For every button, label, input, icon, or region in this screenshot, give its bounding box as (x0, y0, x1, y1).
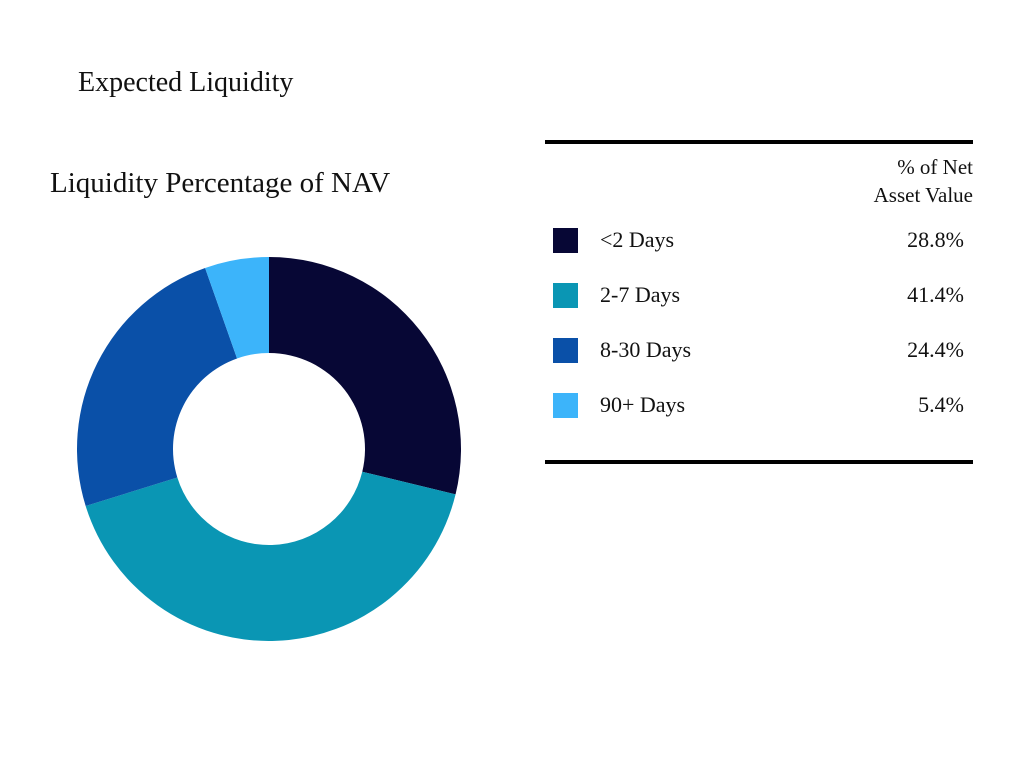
donut-slice[interactable] (86, 472, 456, 641)
legend-label: 8-30 Days (600, 336, 691, 364)
donut-slice[interactable] (77, 268, 237, 506)
legend-label: 2-7 Days (600, 281, 680, 309)
legend-swatch-icon (553, 228, 578, 253)
table-top-rule (545, 140, 973, 144)
legend-value: 24.4% (907, 336, 964, 364)
chart-title: Liquidity Percentage of NAV (50, 166, 390, 201)
liquidity-donut-chart (77, 257, 461, 641)
legend-swatch-icon (553, 283, 578, 308)
value-column-header: % of Net Asset Value (773, 154, 973, 209)
donut-svg (77, 257, 461, 641)
value-header-line-1: % of Net (773, 154, 973, 182)
value-header-line-2: Asset Value (773, 182, 973, 210)
table-bottom-rule (545, 460, 973, 464)
legend-value: 28.8% (907, 226, 964, 254)
table-row[interactable]: 2-7 Days 41.4% (545, 281, 973, 311)
legend-value: 41.4% (907, 281, 964, 309)
donut-slice-group (77, 257, 461, 641)
legend-label: 90+ Days (600, 391, 685, 419)
donut-slice[interactable] (269, 257, 461, 494)
slide-title: Expected Liquidity (78, 66, 293, 100)
legend-swatch-icon (553, 393, 578, 418)
liquidity-legend-table: % of Net Asset Value <2 Days 28.8% 2-7 D… (545, 140, 973, 464)
legend-value: 5.4% (918, 391, 964, 419)
legend-swatch-icon (553, 338, 578, 363)
table-row[interactable]: <2 Days 28.8% (545, 226, 973, 256)
legend-label: <2 Days (600, 226, 674, 254)
table-row[interactable]: 8-30 Days 24.4% (545, 336, 973, 366)
table-row[interactable]: 90+ Days 5.4% (545, 391, 973, 421)
